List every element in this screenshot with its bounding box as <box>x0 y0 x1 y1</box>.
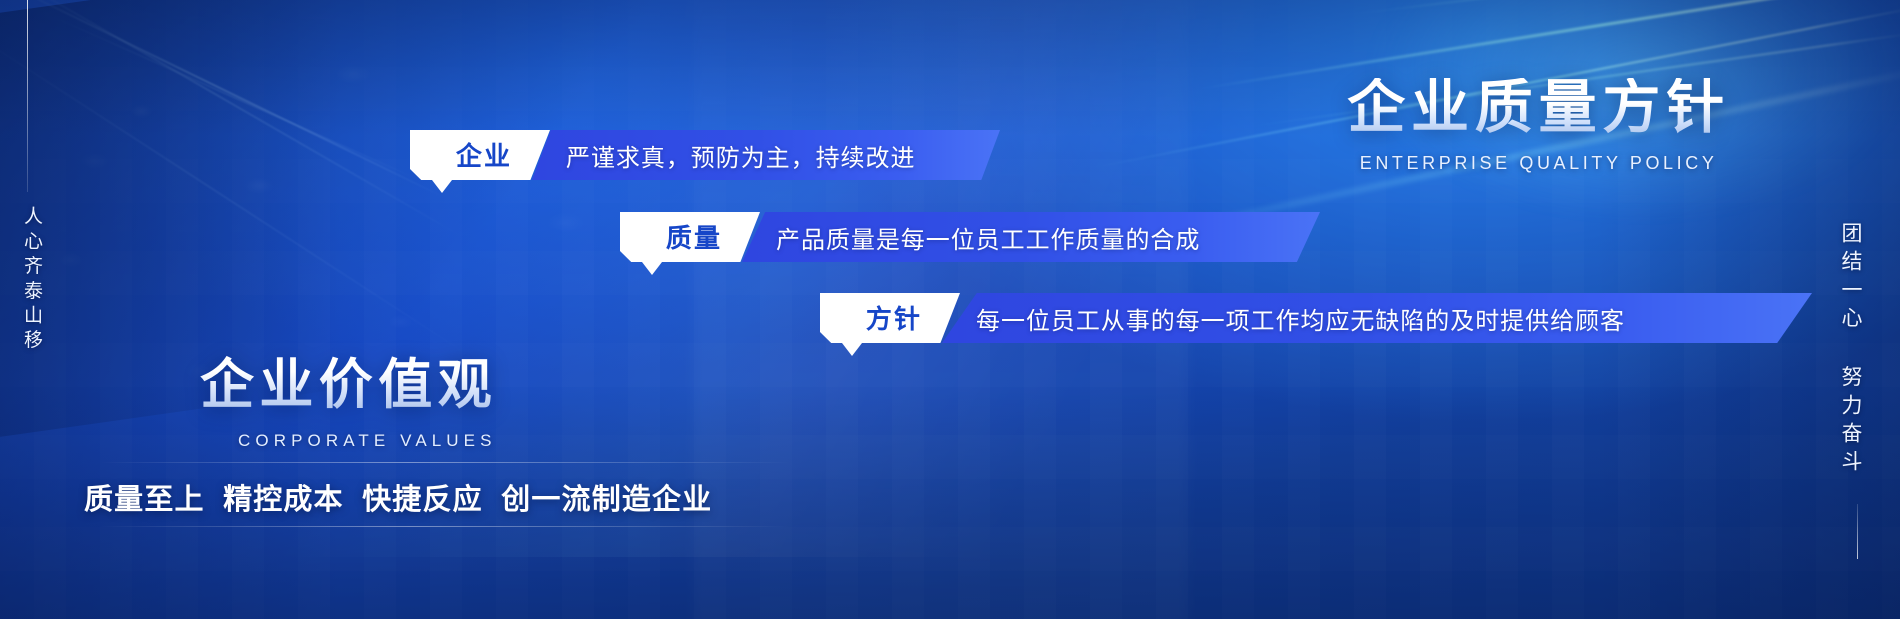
right-vertical-motto: 团结一心 努力奋斗 <box>1836 222 1866 478</box>
policy-tag-label: 企业 <box>456 136 512 173</box>
policy-tag-pointer-icon <box>432 180 452 193</box>
slogan-divider-top <box>100 462 790 463</box>
page-title: 企业质量方针 <box>1347 78 1730 139</box>
headline-block: 企业质量方针 ENTERPRISE QUALITY POLICY <box>1347 78 1730 174</box>
policy-tag: 企业 <box>410 130 550 180</box>
corporate-values-slogan: 质量至上 精控成本 快捷反应 创一流制造企业 <box>84 476 712 518</box>
policy-tag: 质量 <box>620 212 760 262</box>
policy-tag-label: 方针 <box>866 299 922 336</box>
corporate-values-block: 企业价值观 CORPORATE VALUES <box>200 340 497 451</box>
slogan-divider-bottom <box>100 526 790 527</box>
right-vertical-rule <box>1857 504 1858 559</box>
policy-tag-pointer-icon <box>842 343 862 356</box>
corporate-values-title: 企业价值观 <box>200 340 497 419</box>
left-vertical-motto: 人心齐泰山移 <box>18 206 45 354</box>
left-vertical-rule <box>27 0 28 192</box>
policy-tag: 方针 <box>820 293 960 343</box>
left-side-column: 人心齐泰山移 <box>0 0 86 619</box>
right-side-column: 团结一心 努力奋斗 <box>1814 0 1900 619</box>
policy-bar: 产品质量是每一位员工工作质量的合成 <box>742 212 1320 262</box>
page-subtitle: ENTERPRISE QUALITY POLICY <box>1347 153 1730 174</box>
policy-bar: 每一位员工从事的每一项工作均应无缺陷的及时提供给顾客 <box>942 293 1812 343</box>
policy-bar-text: 产品质量是每一位员工工作质量的合成 <box>776 220 1200 255</box>
corporate-values-subtitle: CORPORATE VALUES <box>238 431 497 451</box>
policy-bar: 严谨求真，预防为主，持续改进 <box>532 130 1000 180</box>
policy-tag-label: 质量 <box>666 218 722 255</box>
policy-bar-text: 每一位员工从事的每一项工作均应无缺陷的及时提供给顾客 <box>976 301 1625 336</box>
banner-canvas: 人心齐泰山移 团结一心 努力奋斗 企业质量方针 ENTERPRISE QUALI… <box>0 0 1900 619</box>
policy-bar-text: 严谨求真，预防为主，持续改进 <box>566 138 915 173</box>
policy-tag-pointer-icon <box>642 262 662 275</box>
